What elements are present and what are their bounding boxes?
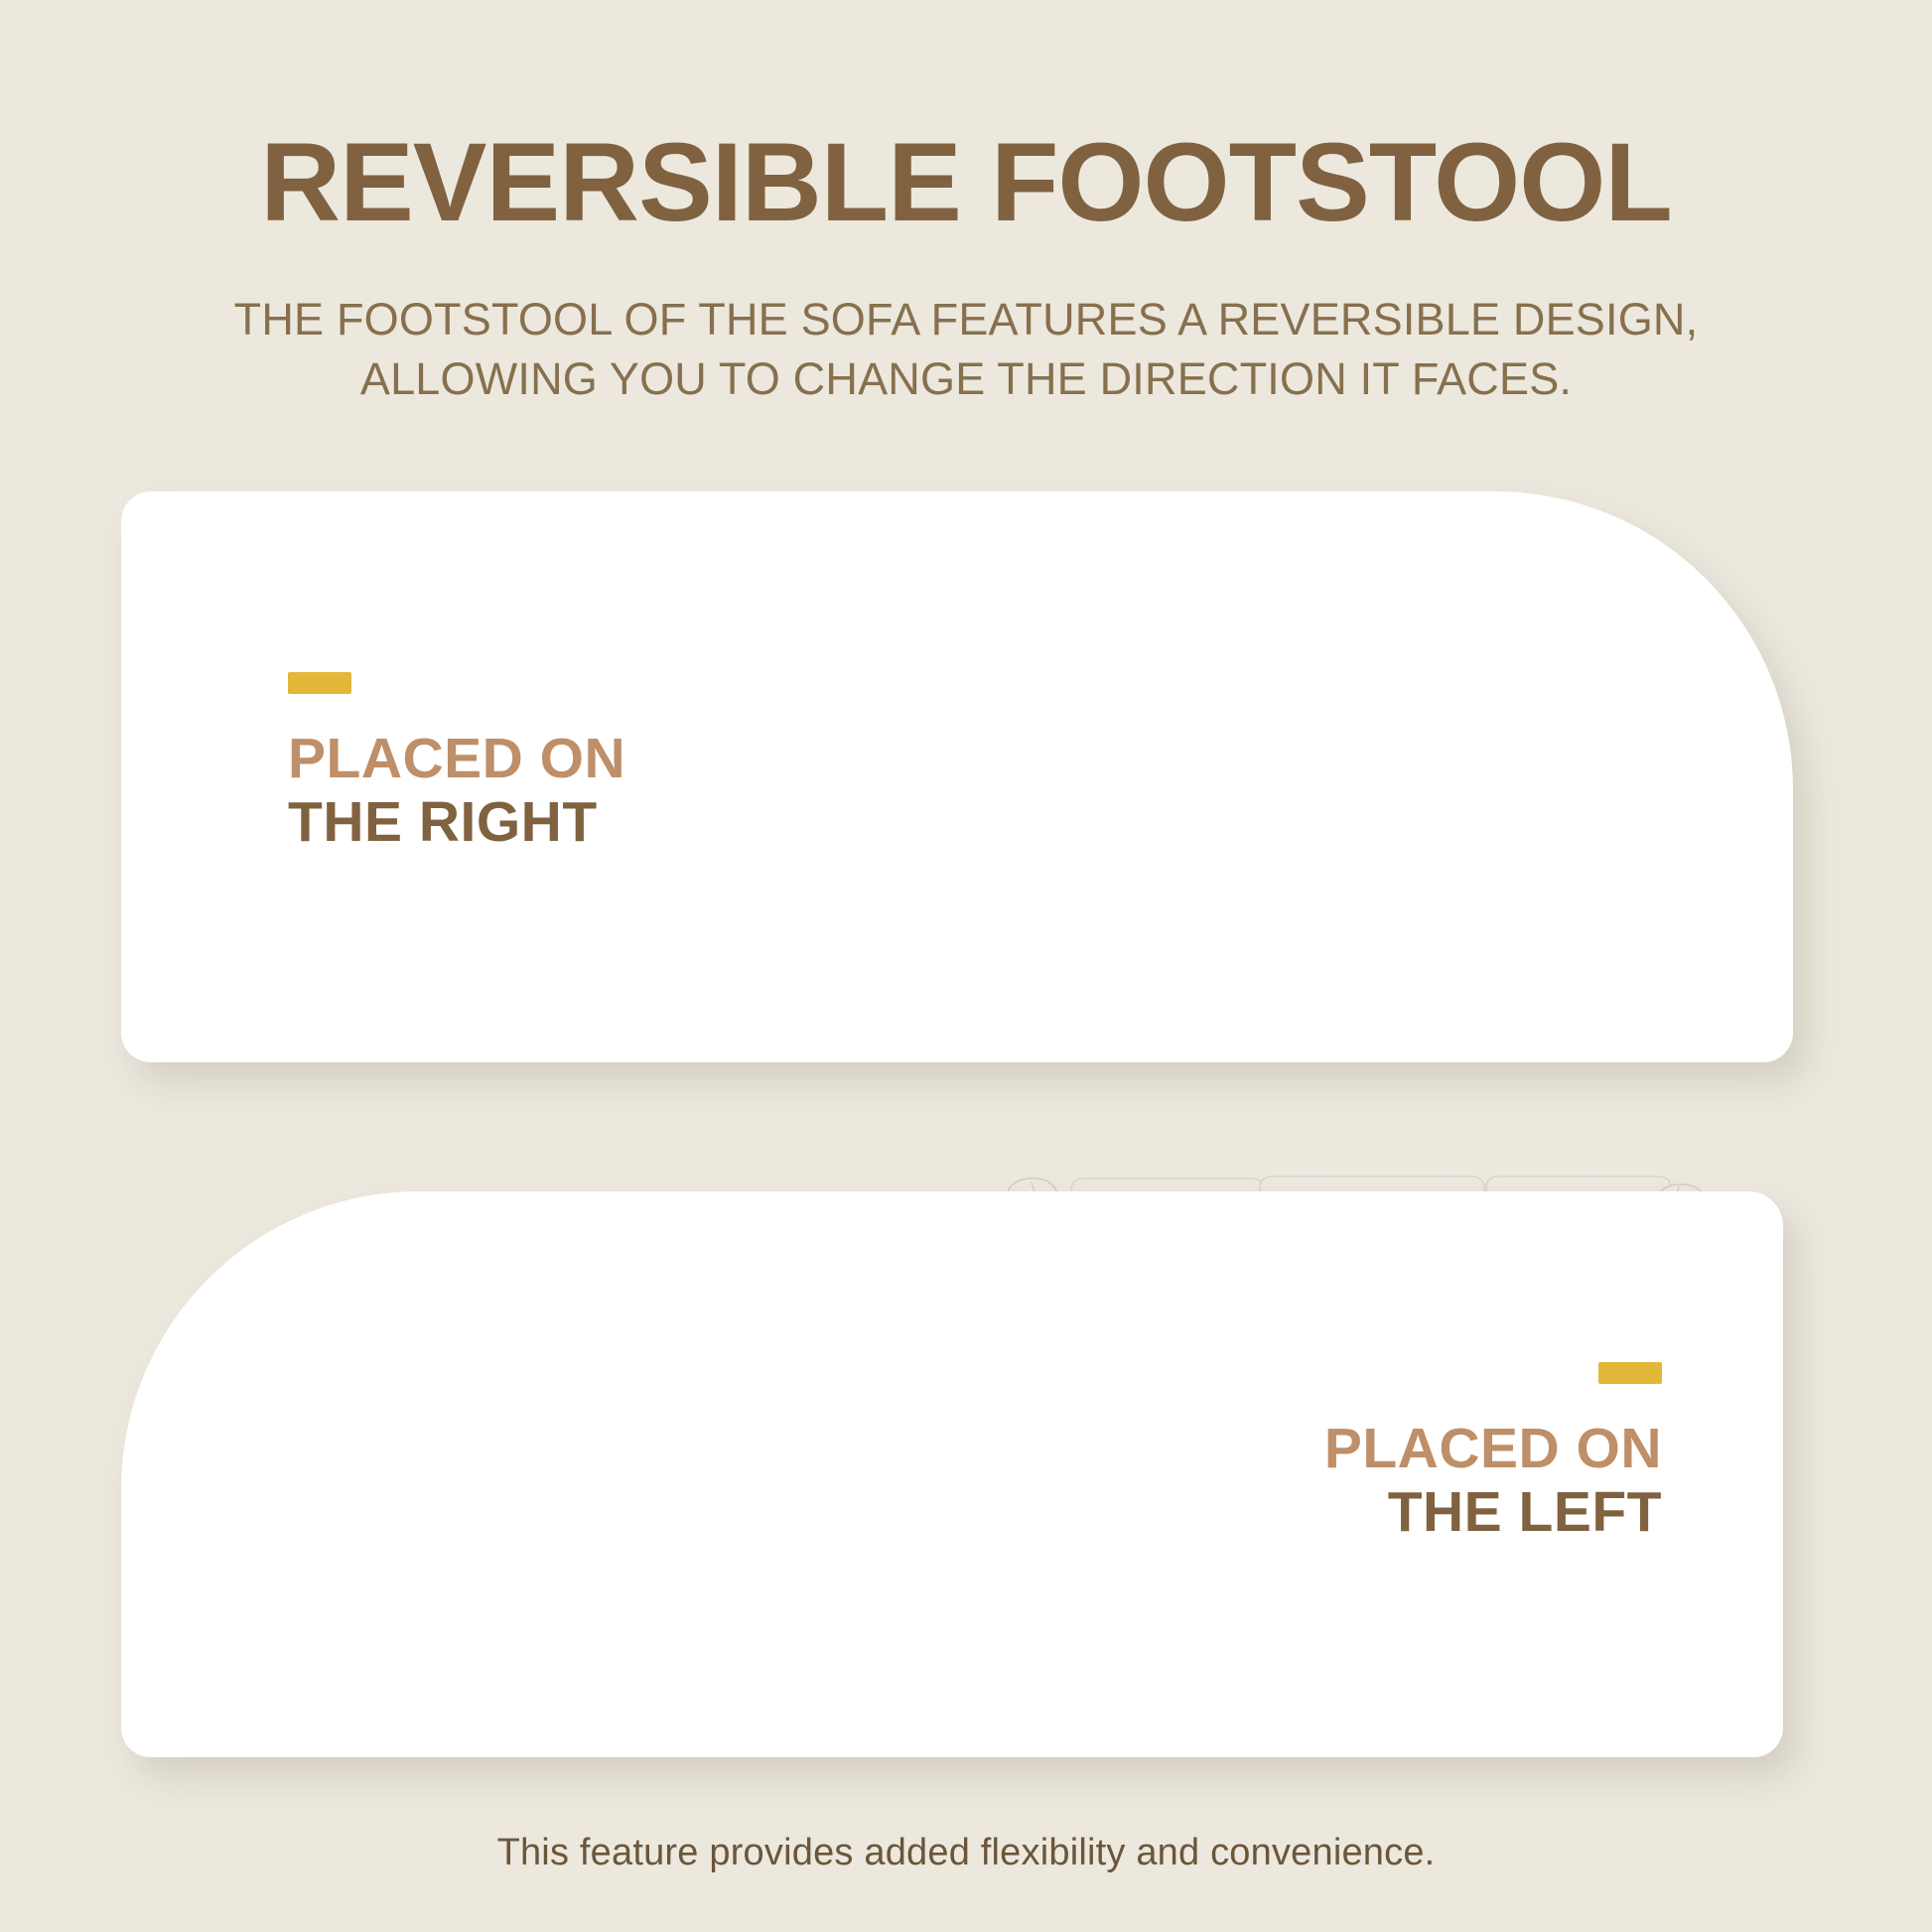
label-block-left: PLACED ON THE LEFT <box>1324 1362 1662 1545</box>
card-right-label-line-1: PLACED ON <box>288 728 625 791</box>
card-left-label-line-2: THE LEFT <box>1324 1481 1662 1545</box>
subtitle-line-1: THE FOOTSTOOL OF THE SOFA FEATURES A REV… <box>0 290 1932 349</box>
header: REVERSIBLE FOOTSTOOL THE FOOTSTOOL OF TH… <box>0 127 1932 409</box>
label-block-right: PLACED ON THE RIGHT <box>288 672 625 855</box>
page-title: REVERSIBLE FOOTSTOOL <box>0 127 1932 238</box>
footer-note: This feature provides added flexibility … <box>0 1832 1932 1874</box>
card-left-label-line-1: PLACED ON <box>1324 1418 1662 1481</box>
accent-bar-icon <box>1598 1362 1662 1384</box>
card-placed-on-the-right[interactable]: PLACED ON THE RIGHT <box>121 491 1793 1062</box>
card-placed-on-the-left[interactable]: PLACED ON THE LEFT <box>121 1191 1783 1757</box>
accent-bar-icon <box>288 672 351 694</box>
infographic-page: REVERSIBLE FOOTSTOOL THE FOOTSTOOL OF TH… <box>0 0 1932 1932</box>
subtitle-line-2: ALLOWING YOU TO CHANGE THE DIRECTION IT … <box>0 349 1932 409</box>
page-subtitle: THE FOOTSTOOL OF THE SOFA FEATURES A REV… <box>0 290 1932 409</box>
card-right-label-line-2: THE RIGHT <box>288 791 625 855</box>
